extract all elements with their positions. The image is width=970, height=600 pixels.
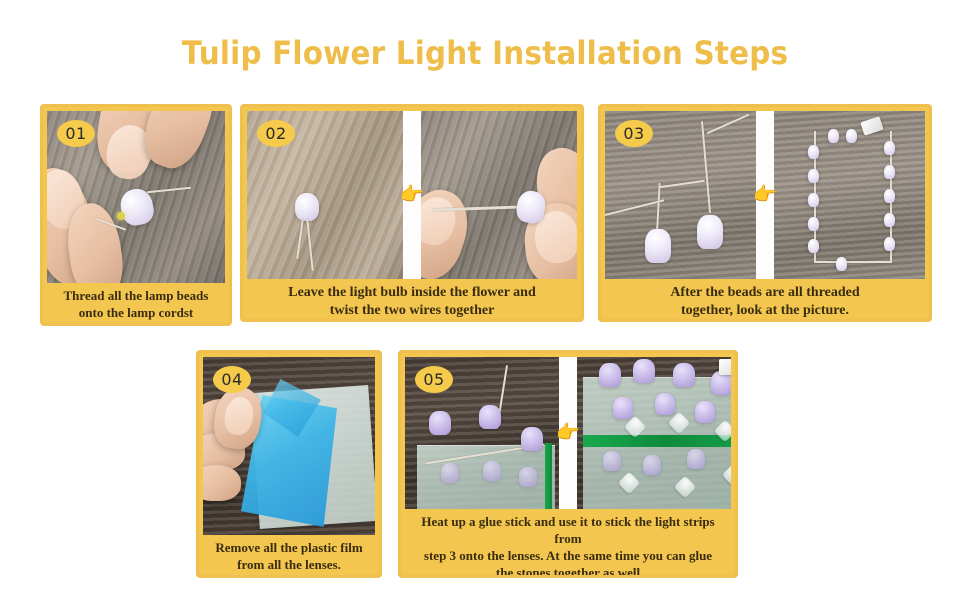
lamp-bead [808,193,819,207]
lamp-bead [884,237,895,251]
caption-line: After the beads are all threaded [607,284,923,302]
lens-green-edge [545,443,552,509]
caption-line: twist the two wires together [249,302,575,320]
tulip-flower [519,467,537,487]
step-03-pane-divider: 👉 [756,111,774,279]
lamp-bead [884,165,895,179]
step-badge-01: 01 [57,120,95,147]
caption-line: onto the lamp cordst [49,305,223,322]
step-04-photo: 04 [203,357,375,535]
step-01-photo: 01 [47,111,225,283]
caption-line: Thread all the lamp beads [49,288,223,305]
tulip-flower [521,427,543,451]
step-05-photo: 👉 [405,357,731,509]
tulip-flower [429,411,451,435]
lamp-bead [836,257,847,271]
step-05-pane-2 [577,357,731,509]
lamp-bead [808,239,819,253]
step-badge-04: 04 [213,366,251,393]
tulip-flower [697,215,723,249]
lamp-bead [808,169,819,183]
page-title: Tulip Flower Light Installation Steps [39,34,931,72]
tulip-flower [479,405,501,429]
caption-line: from all the lenses. [205,557,373,574]
tulip-flower [655,393,675,415]
tulip-flower [603,451,621,471]
step-04-caption: Remove all the plastic film from all the… [203,535,375,577]
lamp-bead [846,129,857,143]
lamp-bead [808,145,819,159]
step-03-pane-2 [774,111,925,279]
step-card-04[interactable]: 04 Remove all the plastic film from all … [196,350,382,578]
step-card-05[interactable]: 👉 [398,350,738,578]
pointing-hand-icon: 👉 [753,186,777,205]
lamp-bead [884,213,895,227]
step-05-caption: Heat up a glue stick and use it to stick… [405,509,731,575]
caption-line: Remove all the plastic film [205,540,373,557]
step-card-03[interactable]: 👉 [598,104,932,322]
pointing-hand-icon: 👉 [400,186,424,205]
lamp-bead [828,129,839,143]
tulip-flower [613,397,633,419]
caption-line: step 3 onto the lenses. At the same time… [407,548,729,565]
installation-steps-page: Tulip Flower Light Installation Steps 01 [0,0,970,600]
finger-shape [203,465,241,501]
step-badge-05: 05 [415,366,453,393]
lamp-bead [808,217,819,231]
tulip-flower [441,463,459,483]
tulip-flower [673,363,695,387]
caption-line: the stones together as well [407,565,729,578]
tulip-flower [645,229,671,263]
tulip-flower [695,401,715,423]
lamp-cord [814,261,892,263]
lamp-bead [884,141,895,155]
step-02-photo: 👉 02 [247,111,577,279]
step-02-caption: Leave the light bulb inside the flower a… [247,279,577,321]
step-02-pane-divider: 👉 [403,111,421,279]
pointing-hand-icon: 👉 [556,424,580,443]
step-card-01[interactable]: 01 Thread all the lamp beads onto the la… [40,104,232,326]
caption-line: together, look at the picture. [607,302,923,320]
lamp-bead [884,189,895,203]
tulip-flower [643,455,661,475]
step-badge-03: 03 [615,120,653,147]
step-01-caption: Thread all the lamp beads onto the lamp … [47,283,225,325]
caption-line: Heat up a glue stick and use it to stick… [407,514,729,548]
caption-line: Leave the light bulb inside the flower a… [249,284,575,302]
step-03-caption: After the beads are all threaded togethe… [605,279,925,321]
step-05-pane-divider: 👉 [559,357,577,509]
tulip-flower [687,449,705,469]
bulb-glow [117,212,125,220]
step-03-photo: 👉 [605,111,925,279]
step-02-pane-2 [421,111,577,279]
white-switch [719,359,731,375]
tulip-flower [633,359,655,383]
tulip-flower [599,363,621,387]
tulip-flower [483,461,501,481]
step-badge-02: 02 [257,120,295,147]
lens-green-edge [583,435,731,447]
step-card-02[interactable]: 👉 02 Leave the light bulb inside the flo… [240,104,584,322]
lamp-bead [295,193,319,221]
